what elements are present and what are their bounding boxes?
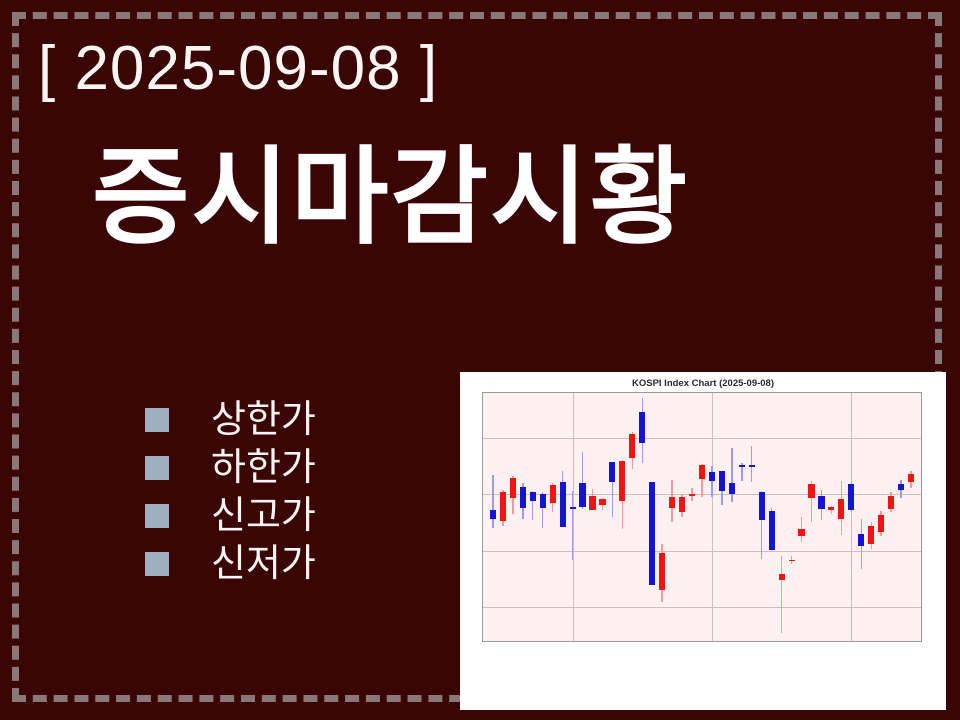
candle-body [828, 507, 834, 510]
candle-body [570, 507, 576, 509]
candle-body [729, 483, 735, 494]
legend-item: 상한가 [145, 396, 405, 444]
candle-body [798, 529, 804, 536]
candle-body [629, 434, 635, 459]
slide-root: [ 2025-09-08 ] 증시마감시황 상한가하한가신고가신저가 KOSPI… [0, 0, 960, 720]
candle-body [709, 472, 715, 481]
candle-body [679, 497, 685, 513]
candle-body [649, 482, 655, 585]
candle-body [639, 412, 645, 442]
square-bullet-icon [145, 552, 169, 576]
candle-wick [492, 475, 493, 528]
legend-item: 하한가 [145, 444, 405, 492]
candle-body [739, 465, 745, 467]
date-header: [ 2025-09-08 ] [38, 38, 438, 100]
candle-body [898, 484, 904, 490]
candle-body [818, 496, 824, 510]
candle-body [550, 485, 556, 503]
candle-body [878, 515, 884, 532]
x-gridline [712, 393, 713, 641]
x-gridline [851, 393, 852, 641]
candle-body [530, 492, 536, 501]
y-tick-mark [482, 494, 483, 495]
candle-body [779, 574, 785, 580]
legend-list: 상한가하한가신고가신저가 [145, 396, 405, 588]
candle-body [619, 461, 625, 502]
y-tick-mark [482, 438, 483, 439]
kospi-chart-card: KOSPI Index Chart (2025-09-08) 310031503… [460, 372, 946, 710]
square-bullet-icon [145, 408, 169, 432]
candle-body [689, 494, 695, 496]
legend-item: 신저가 [145, 540, 405, 588]
candle-body [669, 497, 675, 508]
candle-body [719, 471, 725, 491]
candle-body [609, 462, 615, 482]
candle-body [520, 487, 526, 508]
candle-body [699, 465, 705, 479]
y-gridline [483, 551, 921, 552]
candle-body [769, 511, 775, 549]
candle-body [908, 474, 914, 482]
x-tick-mark [712, 641, 713, 642]
x-tick-mark [851, 641, 852, 642]
candle-body [540, 494, 546, 508]
square-bullet-icon [145, 504, 169, 528]
candle-body [848, 484, 854, 510]
legend-item-label: 상한가 [211, 401, 316, 439]
chart-plot-area: 31003150320032502025/07/222025/08/112025… [482, 392, 922, 642]
candle-wick [751, 446, 752, 482]
candle-body [579, 483, 585, 507]
candle-body [838, 499, 844, 519]
page-title: 증시마감시황 [92, 145, 689, 251]
legend-item-label: 신고가 [211, 497, 316, 535]
candle-body [510, 478, 516, 498]
candle-body [759, 492, 765, 520]
square-bullet-icon [145, 456, 169, 480]
candle-body [749, 465, 755, 467]
legend-item-label: 신저가 [211, 545, 316, 583]
legend-item-label: 하한가 [211, 449, 316, 487]
chart-title: KOSPI Index Chart (2025-09-08) [460, 378, 946, 389]
candle-body [599, 499, 605, 505]
candle-body [560, 482, 566, 527]
candle-wick [572, 491, 573, 560]
candle-body [789, 560, 795, 562]
candle-wick [711, 466, 712, 496]
y-tick-mark [482, 607, 483, 608]
candle-body [858, 534, 864, 546]
candle-body [500, 492, 506, 521]
candle-body [808, 484, 814, 498]
y-gridline [483, 438, 921, 439]
y-tick-mark [482, 551, 483, 552]
candle-wick [781, 556, 782, 633]
y-gridline [483, 607, 921, 608]
x-tick-mark [573, 641, 574, 642]
candle-body [888, 496, 894, 510]
candle-body [490, 510, 496, 519]
candle-body [868, 526, 874, 544]
legend-item: 신고가 [145, 492, 405, 540]
candle-body [659, 553, 665, 590]
candle-body [589, 496, 595, 511]
